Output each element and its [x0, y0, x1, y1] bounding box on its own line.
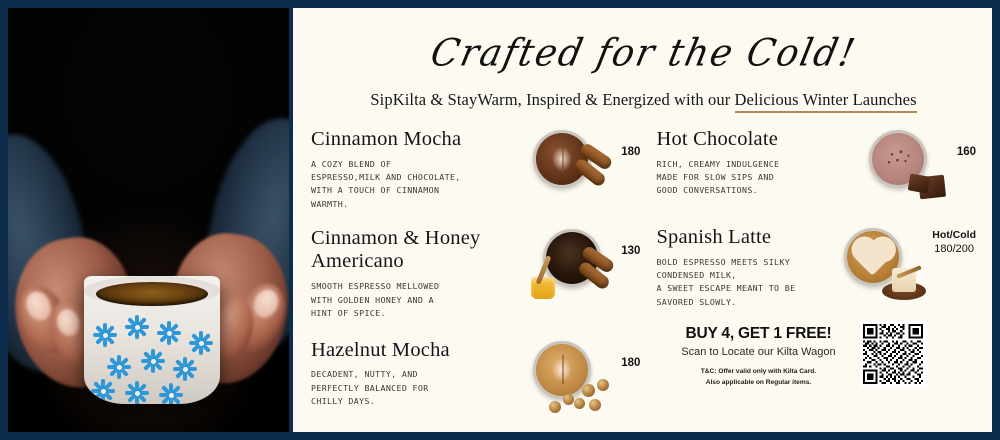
- menu-item-description: SMOOTH ESPRESSO MELLOWED WITH GOLDEN HON…: [311, 280, 533, 320]
- menu-item-description: A COZY BLEND OF ESPRESSO,MILK AND CHOCOL…: [311, 158, 533, 212]
- price-value: 180/200: [932, 242, 976, 257]
- menu-item-price: 160: [957, 128, 976, 158]
- menu-item-media: 180: [533, 126, 640, 202]
- menu-item-price: 180: [621, 339, 640, 369]
- promo-headline: BUY 4, GET 1 FREE!: [670, 325, 846, 343]
- menu-item-description: DECADENT, NUTTY, AND PERFECTLY BALANCED …: [311, 368, 533, 408]
- menu-item-name: Hot Chocolate: [656, 128, 868, 151]
- drink-image-hot-chocolate: [869, 128, 951, 202]
- menu-column-right: Hot Chocolate RICH, CREAMY INDULGENCE MA…: [646, 126, 976, 413]
- cup-floral-pattern: [84, 308, 220, 404]
- menu-item-name: Cinnamon Mocha: [311, 128, 533, 151]
- drink-image-honey-americano: [533, 227, 615, 301]
- drink-image-cinnamon-mocha: [533, 128, 615, 202]
- menu-item-name: Spanish Latte: [656, 226, 844, 249]
- hero-photo: [8, 8, 289, 432]
- menu-item-media: 180: [533, 337, 640, 413]
- menu-panel: Crafted for the Cold! SipKilta & StayWar…: [293, 8, 992, 432]
- menu-item-text: Cinnamon Mocha A COZY BLEND OF ESPRESSO,…: [311, 126, 533, 212]
- subtitle-lead: SipKilta & StayWarm, Inspired & Energize…: [370, 90, 734, 109]
- promo-terms-line1: T&C: Offer valid only with Kilta Card.: [670, 367, 846, 377]
- menu-item-media: Hot/Cold 180/200: [844, 224, 976, 300]
- menu-item-name: Hazelnut Mocha: [311, 339, 533, 362]
- promo-terms: T&C: Offer valid only with Kilta Card. A…: [670, 367, 846, 387]
- menu-item[interactable]: Cinnamon & Honey Americano SMOOTH ESPRES…: [311, 225, 640, 320]
- menu-column-left: Cinnamon Mocha A COZY BLEND OF ESPRESSO,…: [311, 126, 640, 413]
- menu-item-text: Cinnamon & Honey Americano SMOOTH ESPRES…: [311, 225, 533, 320]
- coffee-cup: [84, 276, 220, 404]
- menu-item-description: BOLD ESPRESSO MEETS SILKY CONDENSED MILK…: [656, 256, 844, 310]
- promo-subline: Scan to Locate our Kilta Wagon: [670, 346, 846, 358]
- price-type-label: Hot/Cold: [932, 228, 976, 242]
- subtitle: SipKilta & StayWarm, Inspired & Energize…: [311, 90, 976, 110]
- menu-item-price: 180: [621, 128, 640, 158]
- qr-code[interactable]: [860, 321, 926, 387]
- menu-item[interactable]: Cinnamon Mocha A COZY BLEND OF ESPRESSO,…: [311, 126, 640, 212]
- menu-item-price: 130: [621, 227, 640, 257]
- page-title: Crafted for the Cold!: [307, 33, 981, 75]
- menu-item-media: 130: [533, 225, 640, 301]
- menu-item[interactable]: Hot Chocolate RICH, CREAMY INDULGENCE MA…: [656, 126, 976, 202]
- drink-image-spanish-latte: [844, 226, 926, 300]
- menu-item-text: Hot Chocolate RICH, CREAMY INDULGENCE MA…: [656, 126, 868, 198]
- menu-columns: Cinnamon Mocha A COZY BLEND OF ESPRESSO,…: [311, 126, 976, 413]
- promo-text: BUY 4, GET 1 FREE! Scan to Locate our Ki…: [670, 321, 846, 387]
- menu-item-text: Hazelnut Mocha DECADENT, NUTTY, AND PERF…: [311, 337, 533, 409]
- drink-image-hazelnut-mocha: [533, 339, 615, 413]
- menu-item[interactable]: Hazelnut Mocha DECADENT, NUTTY, AND PERF…: [311, 337, 640, 413]
- menu-item[interactable]: Spanish Latte BOLD ESPRESSO MEETS SILKY …: [656, 224, 976, 310]
- menu-item-description: RICH, CREAMY INDULGENCE MADE FOR SLOW SI…: [656, 158, 868, 198]
- menu-item-name: Cinnamon & Honey Americano: [311, 227, 511, 273]
- poster: Crafted for the Cold! SipKilta & StayWar…: [0, 0, 1000, 440]
- coffee-liquid: [96, 282, 208, 306]
- qr-code-image: [863, 324, 923, 384]
- promo-terms-line2: Also applicable on Regular items.: [670, 378, 846, 388]
- menu-item-media: 160: [869, 126, 976, 202]
- menu-item-price: Hot/Cold 180/200: [932, 226, 976, 257]
- menu-item-text: Spanish Latte BOLD ESPRESSO MEETS SILKY …: [656, 224, 844, 310]
- subtitle-accent: Delicious Winter Launches: [735, 90, 917, 113]
- promo-block[interactable]: BUY 4, GET 1 FREE! Scan to Locate our Ki…: [656, 321, 976, 387]
